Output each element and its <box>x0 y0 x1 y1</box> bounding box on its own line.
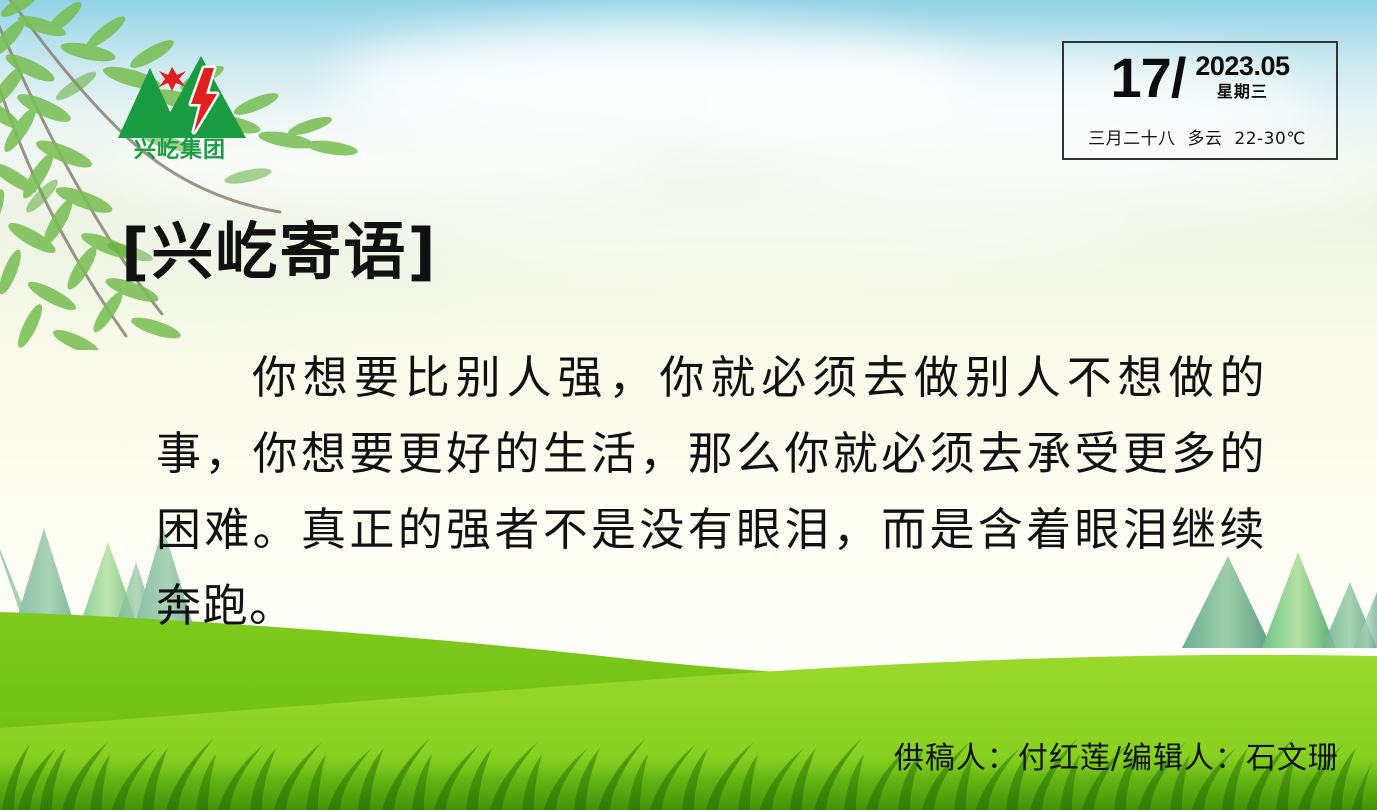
date-weekday: 星期三 <box>1217 81 1268 103</box>
page-title: [兴屹寄语] <box>121 216 438 288</box>
logo-wordmark: 兴屹集团 <box>134 137 226 162</box>
date-card: 17 / 2023.05 星期三 三月二十八 多云 22-30℃ <box>1062 41 1338 160</box>
poster-canvas: 兴屹集团 17 / 2023.05 星期三 三月二十八 多云 22-30℃ [兴… <box>0 0 1377 810</box>
temperature-range: 22-30℃ <box>1234 129 1306 149</box>
date-card-top-row: 17 / 2023.05 星期三 <box>1064 47 1336 119</box>
lunar-date: 三月二十八 <box>1088 129 1176 149</box>
contributor-credits: 供稿人：付红莲/编辑人：石文珊 <box>894 740 1339 778</box>
date-card-right-stack: 2023.05 星期三 <box>1195 47 1289 103</box>
quote-paragraph: 你想要比别人强，你就必须去做别人不想做的事，你想要更好的生活，那么你就必须去承受… <box>156 340 1266 644</box>
date-card-bottom-row: 三月二十八 多云 22-30℃ <box>1064 129 1336 149</box>
company-logo[interactable]: 兴屹集团 <box>104 42 256 162</box>
weather-condition: 多云 <box>1188 129 1223 149</box>
date-day: 17 <box>1111 47 1173 109</box>
date-year-month: 2023.05 <box>1195 52 1289 81</box>
star-icon <box>159 67 186 91</box>
date-slash-separator: / <box>1171 47 1187 109</box>
mountain-lightning-logo-icon: 兴屹集团 <box>104 42 256 162</box>
